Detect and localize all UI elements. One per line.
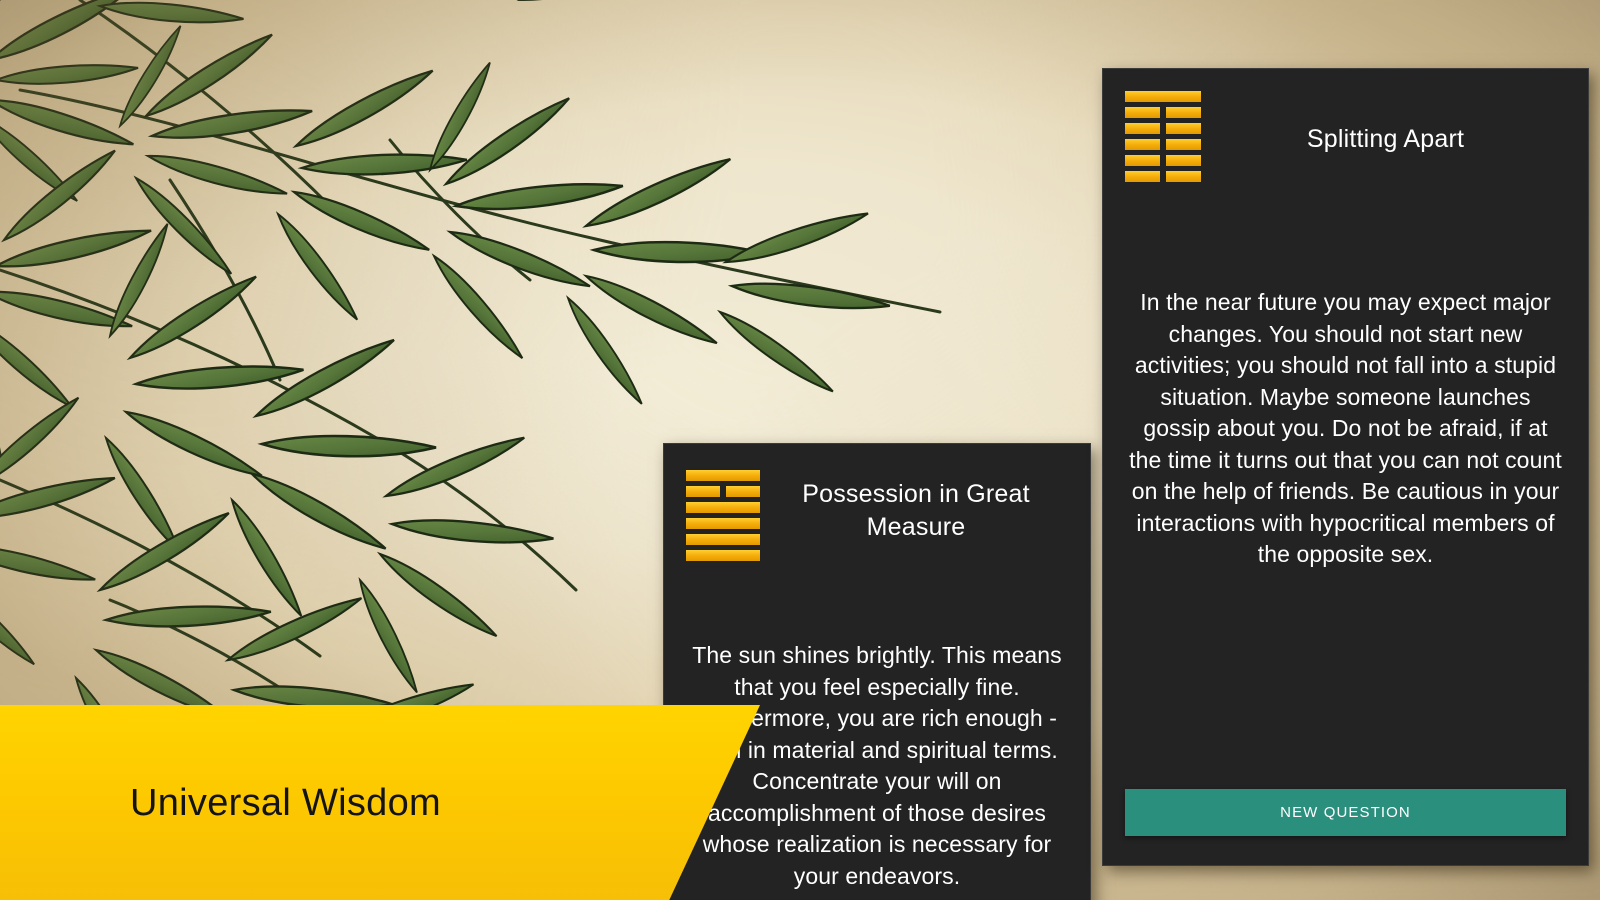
card-header: Splitting Apart — [1103, 69, 1588, 187]
card-title: Possession in Great Measure — [760, 478, 1072, 544]
card-header: Possession in Great Measure — [664, 444, 1090, 566]
app-title-banner: Universal Wisdom — [0, 705, 760, 900]
hexagram-23-icon — [1125, 91, 1201, 187]
hexagram-14-icon — [686, 470, 760, 566]
reading-card-splitting-apart[interactable]: Splitting Apart In the near future you m… — [1102, 68, 1589, 866]
reading-card-possession[interactable]: Possession in Great Measure The sun shin… — [663, 443, 1091, 900]
new-question-button[interactable]: NEW QUESTION — [1125, 789, 1566, 836]
app-title: Universal Wisdom — [130, 782, 441, 825]
card-actions: NEW QUESTION — [1125, 789, 1566, 836]
card-body-text: In the near future you may expect major … — [1103, 287, 1588, 571]
card-title: Splitting Apart — [1201, 123, 1570, 156]
